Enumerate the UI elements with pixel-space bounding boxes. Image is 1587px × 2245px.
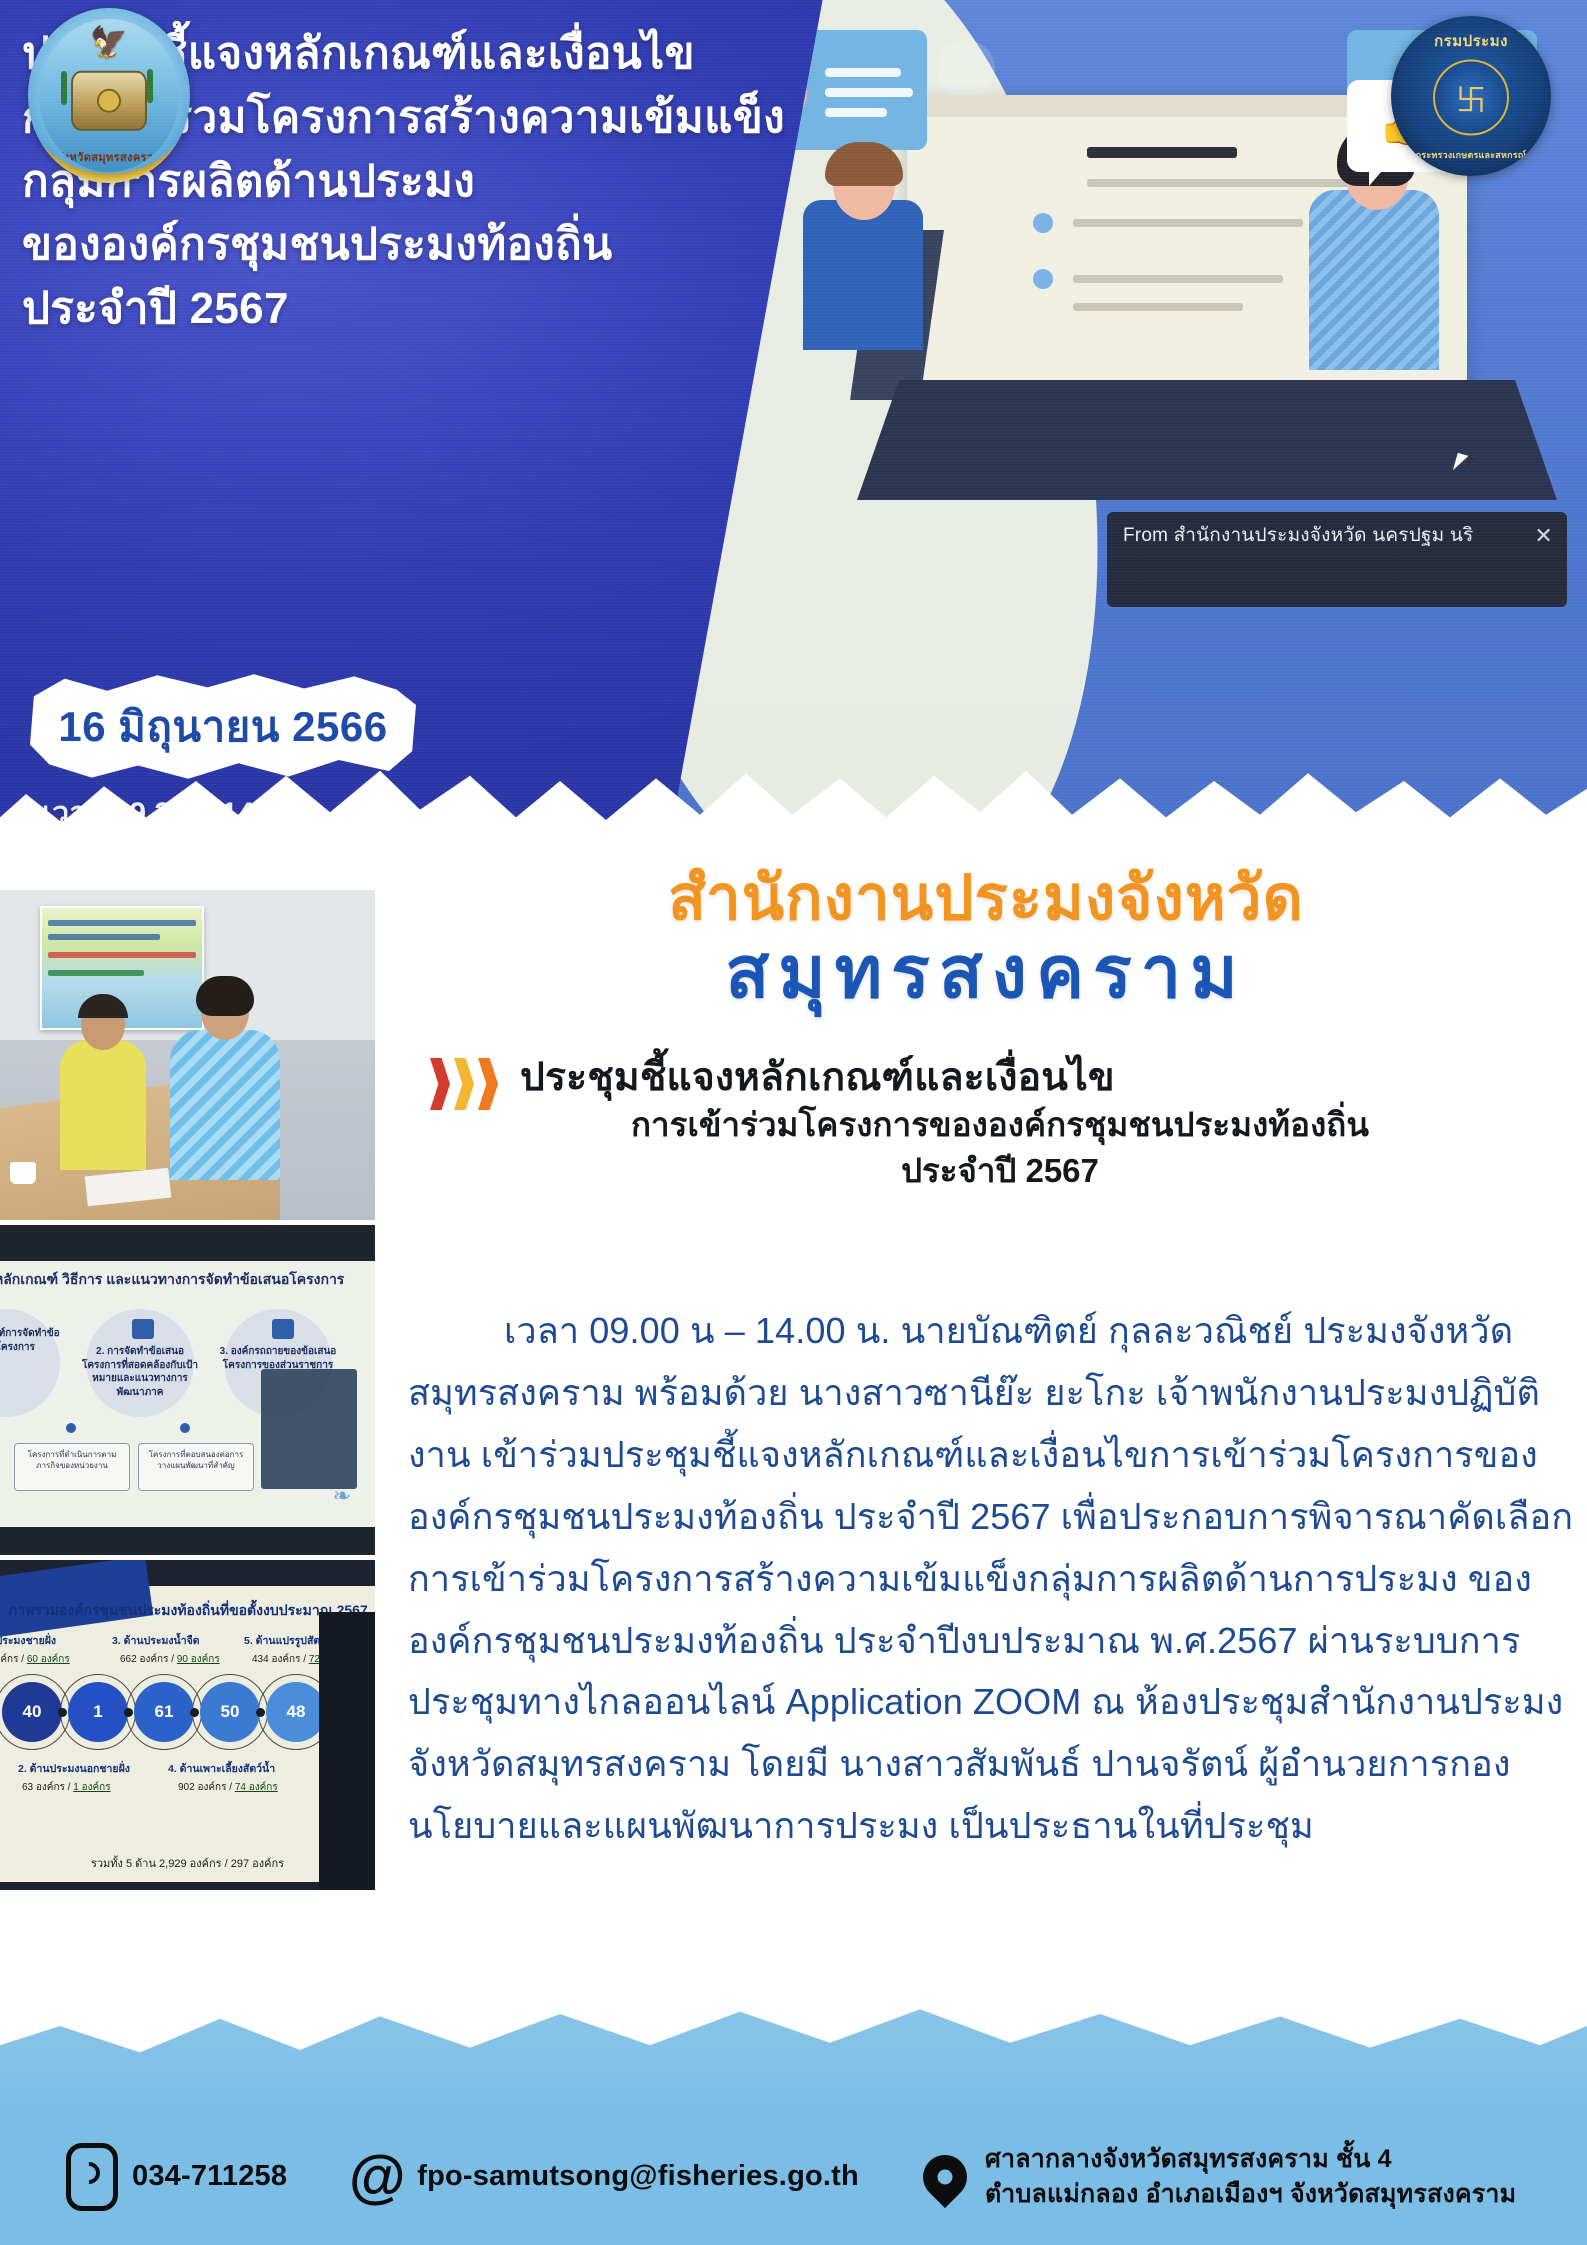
hero-headline-line-5: ประจำปี 2567 <box>22 277 812 341</box>
hero-banner: 👍 From สำนักงานประมงจังหวัด นครปฐม นริ ✕… <box>0 0 1587 860</box>
dof-emblem-icon <box>1433 60 1509 136</box>
chart-value-2: 63 องค์กร / 1 องค์กร <box>22 1780 111 1795</box>
province-seal-ribbon: จังหวัดสมุทรสงคราม <box>39 148 179 166</box>
slide-item-3: 3. องค์กรถถายของข้อเสนอโครงการของส่วนราช… <box>218 1345 338 1372</box>
slide-note-1: โครงการที่ดำเนินการตามภารกิจของหน่วยงาน <box>14 1443 130 1491</box>
projected-slide: หลักเกณฑ์ วิธีการ และแนวทางการจัดทำข้อเส… <box>0 1261 375 1527</box>
total-2: 63 องค์กร <box>22 1782 65 1793</box>
chart-link-dot <box>58 1708 67 1717</box>
slide-connector-dot <box>180 1423 190 1433</box>
presenter-body <box>803 200 923 350</box>
side-photo-overlay <box>261 1369 357 1489</box>
attendee-man <box>60 1040 146 1170</box>
attendee-woman <box>170 1030 280 1180</box>
footer-phone[interactable]: 034-711258 <box>64 2146 287 2208</box>
subtitle-line-3: ประจำปี 2567 <box>420 1144 1580 1197</box>
body-paragraph: เวลา 09.00 น – 14.00 น. นายบัณฑิตย์ กุลล… <box>408 1300 1574 1857</box>
date-text: 16 มิถุนายน 2566 <box>58 694 387 760</box>
mock-bullet <box>1033 269 1053 289</box>
footer-phone-text: 034-711258 <box>132 2160 287 2193</box>
total-1: 868 องค์กร <box>0 1654 18 1665</box>
gear-icon <box>272 1319 294 1339</box>
palm-tree-icon <box>147 69 153 103</box>
selected-3: 90 องค์กร <box>177 1654 220 1665</box>
slide-side-shadow <box>319 1612 375 1890</box>
slide-connector-dot <box>66 1423 76 1433</box>
footer-address-line-1: ศาลากลางจังหวัดสมุทรสงคราม ชั้น 4 <box>985 2142 1516 2177</box>
attendee-body <box>1309 190 1439 370</box>
chart-category-3: 3. ด้านประมงน้ำจืด <box>112 1632 200 1649</box>
footer-email[interactable]: @ fpo-samutsong@fisheries.go.th <box>349 2146 859 2208</box>
chart-value-4: 902 องค์กร / 74 องค์กร <box>178 1780 278 1795</box>
mock-text-line <box>825 88 913 97</box>
drum-icon <box>71 70 147 130</box>
chart-node-5: 48 <box>266 1682 326 1742</box>
total-4: 902 องค์กร <box>178 1782 226 1793</box>
mock-text-line <box>1073 275 1283 283</box>
chart-node-1: 40 <box>2 1682 62 1742</box>
photo-meeting-room <box>0 890 375 1220</box>
chart-category-1: 1. ด้านประมงชายฝั่ง <box>0 1632 56 1649</box>
decorative-circle <box>937 40 995 98</box>
selected-2: 1 องค์กร <box>73 1782 110 1793</box>
mock-text-line <box>825 68 901 77</box>
dof-bottom-text: กระทรวงเกษตรและสหกรณ์ <box>1391 148 1551 162</box>
page-title-organization: สำนักงานประมงจังหวัด <box>396 866 1576 933</box>
zoom-toast-text: From สำนักงานประมงจังหวัด นครปฐม นริ <box>1123 525 1473 546</box>
photo-statistics-slide: ภาพรวมองค์กรชุมชนประมงท้องถิ่นที่ขอตั้งง… <box>0 1560 375 1890</box>
chart-value-3: 662 องค์กร / 90 องค์กร <box>120 1652 220 1667</box>
mock-bullet <box>1033 213 1053 233</box>
chart-title: ภาพรวมองค์กรชุมชนประมงท้องถิ่นที่ขอตั้งง… <box>8 1600 368 1622</box>
chart-node-4: 50 <box>200 1682 260 1742</box>
mock-screen-base <box>857 380 1557 500</box>
province-seal-inner: 🦅 จังหวัดสมุทรสงคราม <box>39 19 179 172</box>
chart-category-4: 4. ด้านเพาะเลี้ยงสัตว์น้ำ <box>168 1760 275 1777</box>
selected-4: 74 องค์กร <box>235 1782 278 1793</box>
total-5: 434 องค์กร <box>252 1654 300 1665</box>
slide-circle <box>0 1309 60 1417</box>
page-title-province: สมุทรสงคราม <box>396 936 1576 1012</box>
garuda-icon: 🦅 <box>90 28 127 58</box>
mock-text-line <box>1073 303 1243 311</box>
phone-icon <box>64 2146 120 2208</box>
hero-headline-line-4: ขององค์กรชุมชนประมงท้องถิ่น <box>22 213 812 277</box>
statistics-slide: ภาพรวมองค์กรชุมชนประมงท้องถิ่นที่ขอตั้งง… <box>0 1586 375 1882</box>
selected-1: 60 องค์กร <box>27 1654 70 1665</box>
slide-item-2: 2. การจัดทำข้อเสนอโครงการที่สอดคล้องกับเ… <box>80 1345 200 1399</box>
chart-value-1: 868 องค์กร / 60 องค์กร <box>0 1652 70 1667</box>
map-pin-icon <box>917 2146 973 2208</box>
total-3: 662 องค์กร <box>120 1654 168 1665</box>
chart-link-dot <box>190 1708 199 1717</box>
slide-note-2: โครงการที่ตอบสนองต่อการวางแผนพัฒนาที่สำค… <box>138 1443 254 1491</box>
photo-criteria-slide: หลักเกณฑ์ วิธีการ และแนวทางการจัดทำข้อเส… <box>0 1225 375 1555</box>
footer-address: ศาลากลางจังหวัดสมุทรสงคราม ชั้น 4 ตำบลแม… <box>917 2142 1516 2211</box>
footer-contact-bar: 034-711258 @ fpo-samutsong@fisheries.go.… <box>0 2108 1587 2245</box>
chart-node-3: 61 <box>134 1682 194 1742</box>
slide-item-1: 1. หลักเกณฑ์การจัดทำข้อเสนอโครงการ <box>0 1327 64 1354</box>
palm-tree-icon <box>61 71 67 105</box>
dof-top-text: กรมประมง <box>1391 29 1551 53</box>
zoom-notification-toast: From สำนักงานประมงจังหวัด นครปฐม นริ ✕ <box>1107 512 1567 607</box>
slide-title: หลักเกณฑ์ วิธีการ และแนวทางการจัดทำข้อเส… <box>0 1269 344 1291</box>
mock-text-line <box>1087 147 1237 158</box>
province-seal-logo: 🦅 จังหวัดสมุทรสงคราม <box>28 8 190 183</box>
footer-email-text: fpo-samutsong@fisheries.go.th <box>417 2160 859 2193</box>
chart-icon <box>132 1319 154 1339</box>
coffee-cup <box>10 1162 36 1184</box>
mock-text-line <box>1073 219 1303 227</box>
chart-category-2: 2. ด้านประมงนอกชายฝั่ง <box>18 1760 130 1777</box>
close-icon[interactable]: ✕ <box>1534 522 1553 550</box>
footer-address-line-2: ตำบลแม่กลอง อำเภอเมืองฯ จังหวัดสมุทรสงคร… <box>985 2177 1516 2212</box>
chart-node-2: 1 <box>68 1682 128 1742</box>
chart-link-dot <box>256 1708 265 1717</box>
at-icon: @ <box>349 2146 405 2208</box>
footer-wave-divider <box>0 1990 1587 2110</box>
chart-link-dot <box>124 1708 133 1717</box>
date-badge: 16 มิถุนายน 2566 <box>30 672 416 782</box>
department-of-fisheries-logo: กรมประมง กระทรวงเกษตรและสหกรณ์ <box>1391 16 1551 176</box>
mock-text-line <box>825 108 887 117</box>
poster-root: 👍 From สำนักงานประมงจังหวัด นครปฐม นริ ✕… <box>0 0 1587 2245</box>
